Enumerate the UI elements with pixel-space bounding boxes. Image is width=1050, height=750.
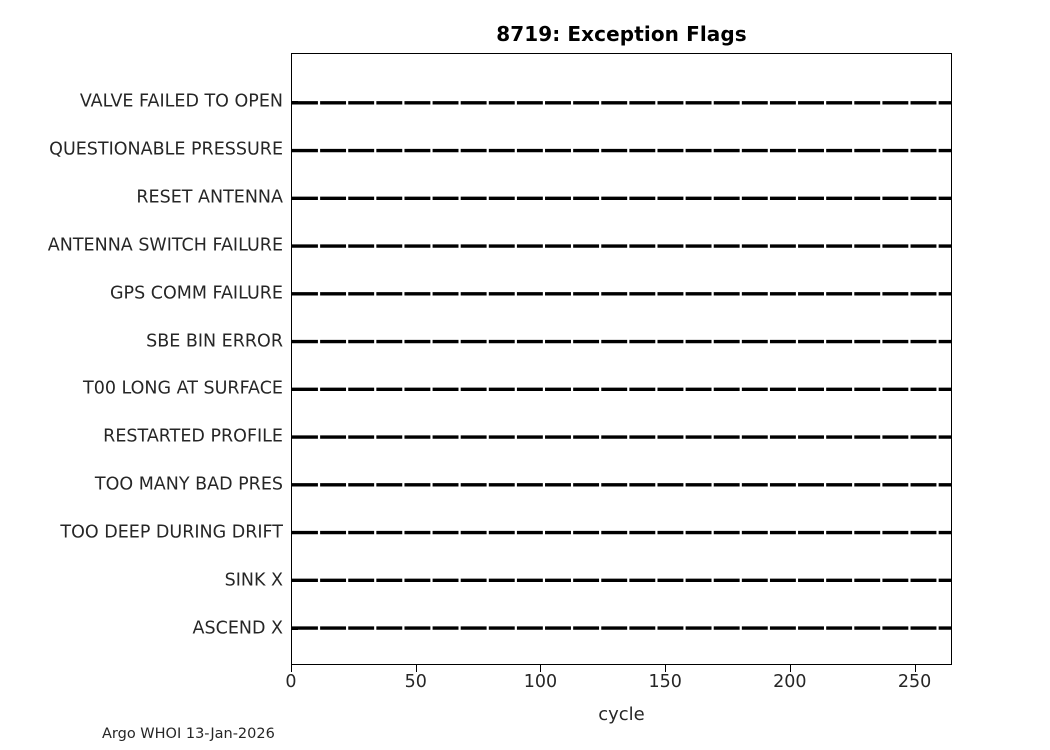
- x-axis-tick-mark: [665, 665, 666, 672]
- page-title: 8719: Exception Flags: [291, 22, 952, 46]
- y-axis-tick-label: VALVE FAILED TO OPEN: [0, 93, 283, 111]
- y-axis-tick-label: RESTARTED PROFILE: [0, 429, 283, 447]
- y-axis-tick-label: QUESTIONABLE PRESSURE: [0, 141, 283, 159]
- y-axis-tick-label: SINK X: [0, 572, 283, 590]
- y-axis-tick-mark: [291, 532, 298, 534]
- y-axis-tick-mark: [291, 388, 298, 390]
- y-axis-tick-label: ASCEND X: [0, 620, 283, 638]
- x-axis-tick-mark: [540, 665, 541, 672]
- x-axis-tick-label: 150: [648, 674, 681, 692]
- footer-credit: Argo WHOI 13-Jan-2026: [102, 726, 275, 742]
- x-axis-tick-label: 250: [898, 674, 931, 692]
- y-axis-tick-mark: [291, 293, 298, 295]
- series-layer: [292, 54, 951, 664]
- x-axis-tick-mark: [291, 665, 292, 672]
- y-axis-tick-label: ANTENNA SWITCH FAILURE: [0, 237, 283, 255]
- y-axis-tick-mark: [291, 436, 298, 438]
- x-axis-tick-mark: [416, 665, 417, 672]
- x-axis-tick-mark: [915, 665, 916, 672]
- x-axis-tick-mark: [790, 665, 791, 672]
- y-axis-tick-mark: [291, 149, 298, 151]
- y-axis-tick-label: SBE BIN ERROR: [0, 333, 283, 351]
- y-axis-tick-mark: [291, 628, 298, 630]
- x-axis-tick-label: 200: [773, 674, 806, 692]
- y-axis-tick-label: TOO MANY BAD PRES: [0, 476, 283, 494]
- y-axis-tick-mark: [291, 245, 298, 247]
- y-axis-tick-mark: [291, 484, 298, 486]
- figure-canvas: 8719: Exception Flags VALVE FAILED TO OP…: [0, 0, 1050, 750]
- plot-area: [291, 53, 952, 665]
- y-axis-tick-mark: [291, 341, 298, 343]
- x-axis-tick-label: 100: [524, 674, 557, 692]
- y-axis-tick-mark: [291, 580, 298, 582]
- y-axis-tick-label: GPS COMM FAILURE: [0, 285, 283, 303]
- y-axis-tick-label: T00 LONG AT SURFACE: [0, 381, 283, 399]
- x-axis-label: cycle: [291, 704, 952, 725]
- y-axis-tick-mark: [291, 197, 298, 199]
- y-axis-tick-label: TOO DEEP DURING DRIFT: [0, 524, 283, 542]
- y-axis-tick-mark: [291, 101, 298, 103]
- y-axis-tick-label: RESET ANTENNA: [0, 189, 283, 207]
- x-axis-tick-label: 50: [405, 674, 427, 692]
- x-axis-tick-label: 0: [285, 674, 296, 692]
- y-axis-tick-labels: VALVE FAILED TO OPENQUESTIONABLE PRESSUR…: [0, 53, 283, 665]
